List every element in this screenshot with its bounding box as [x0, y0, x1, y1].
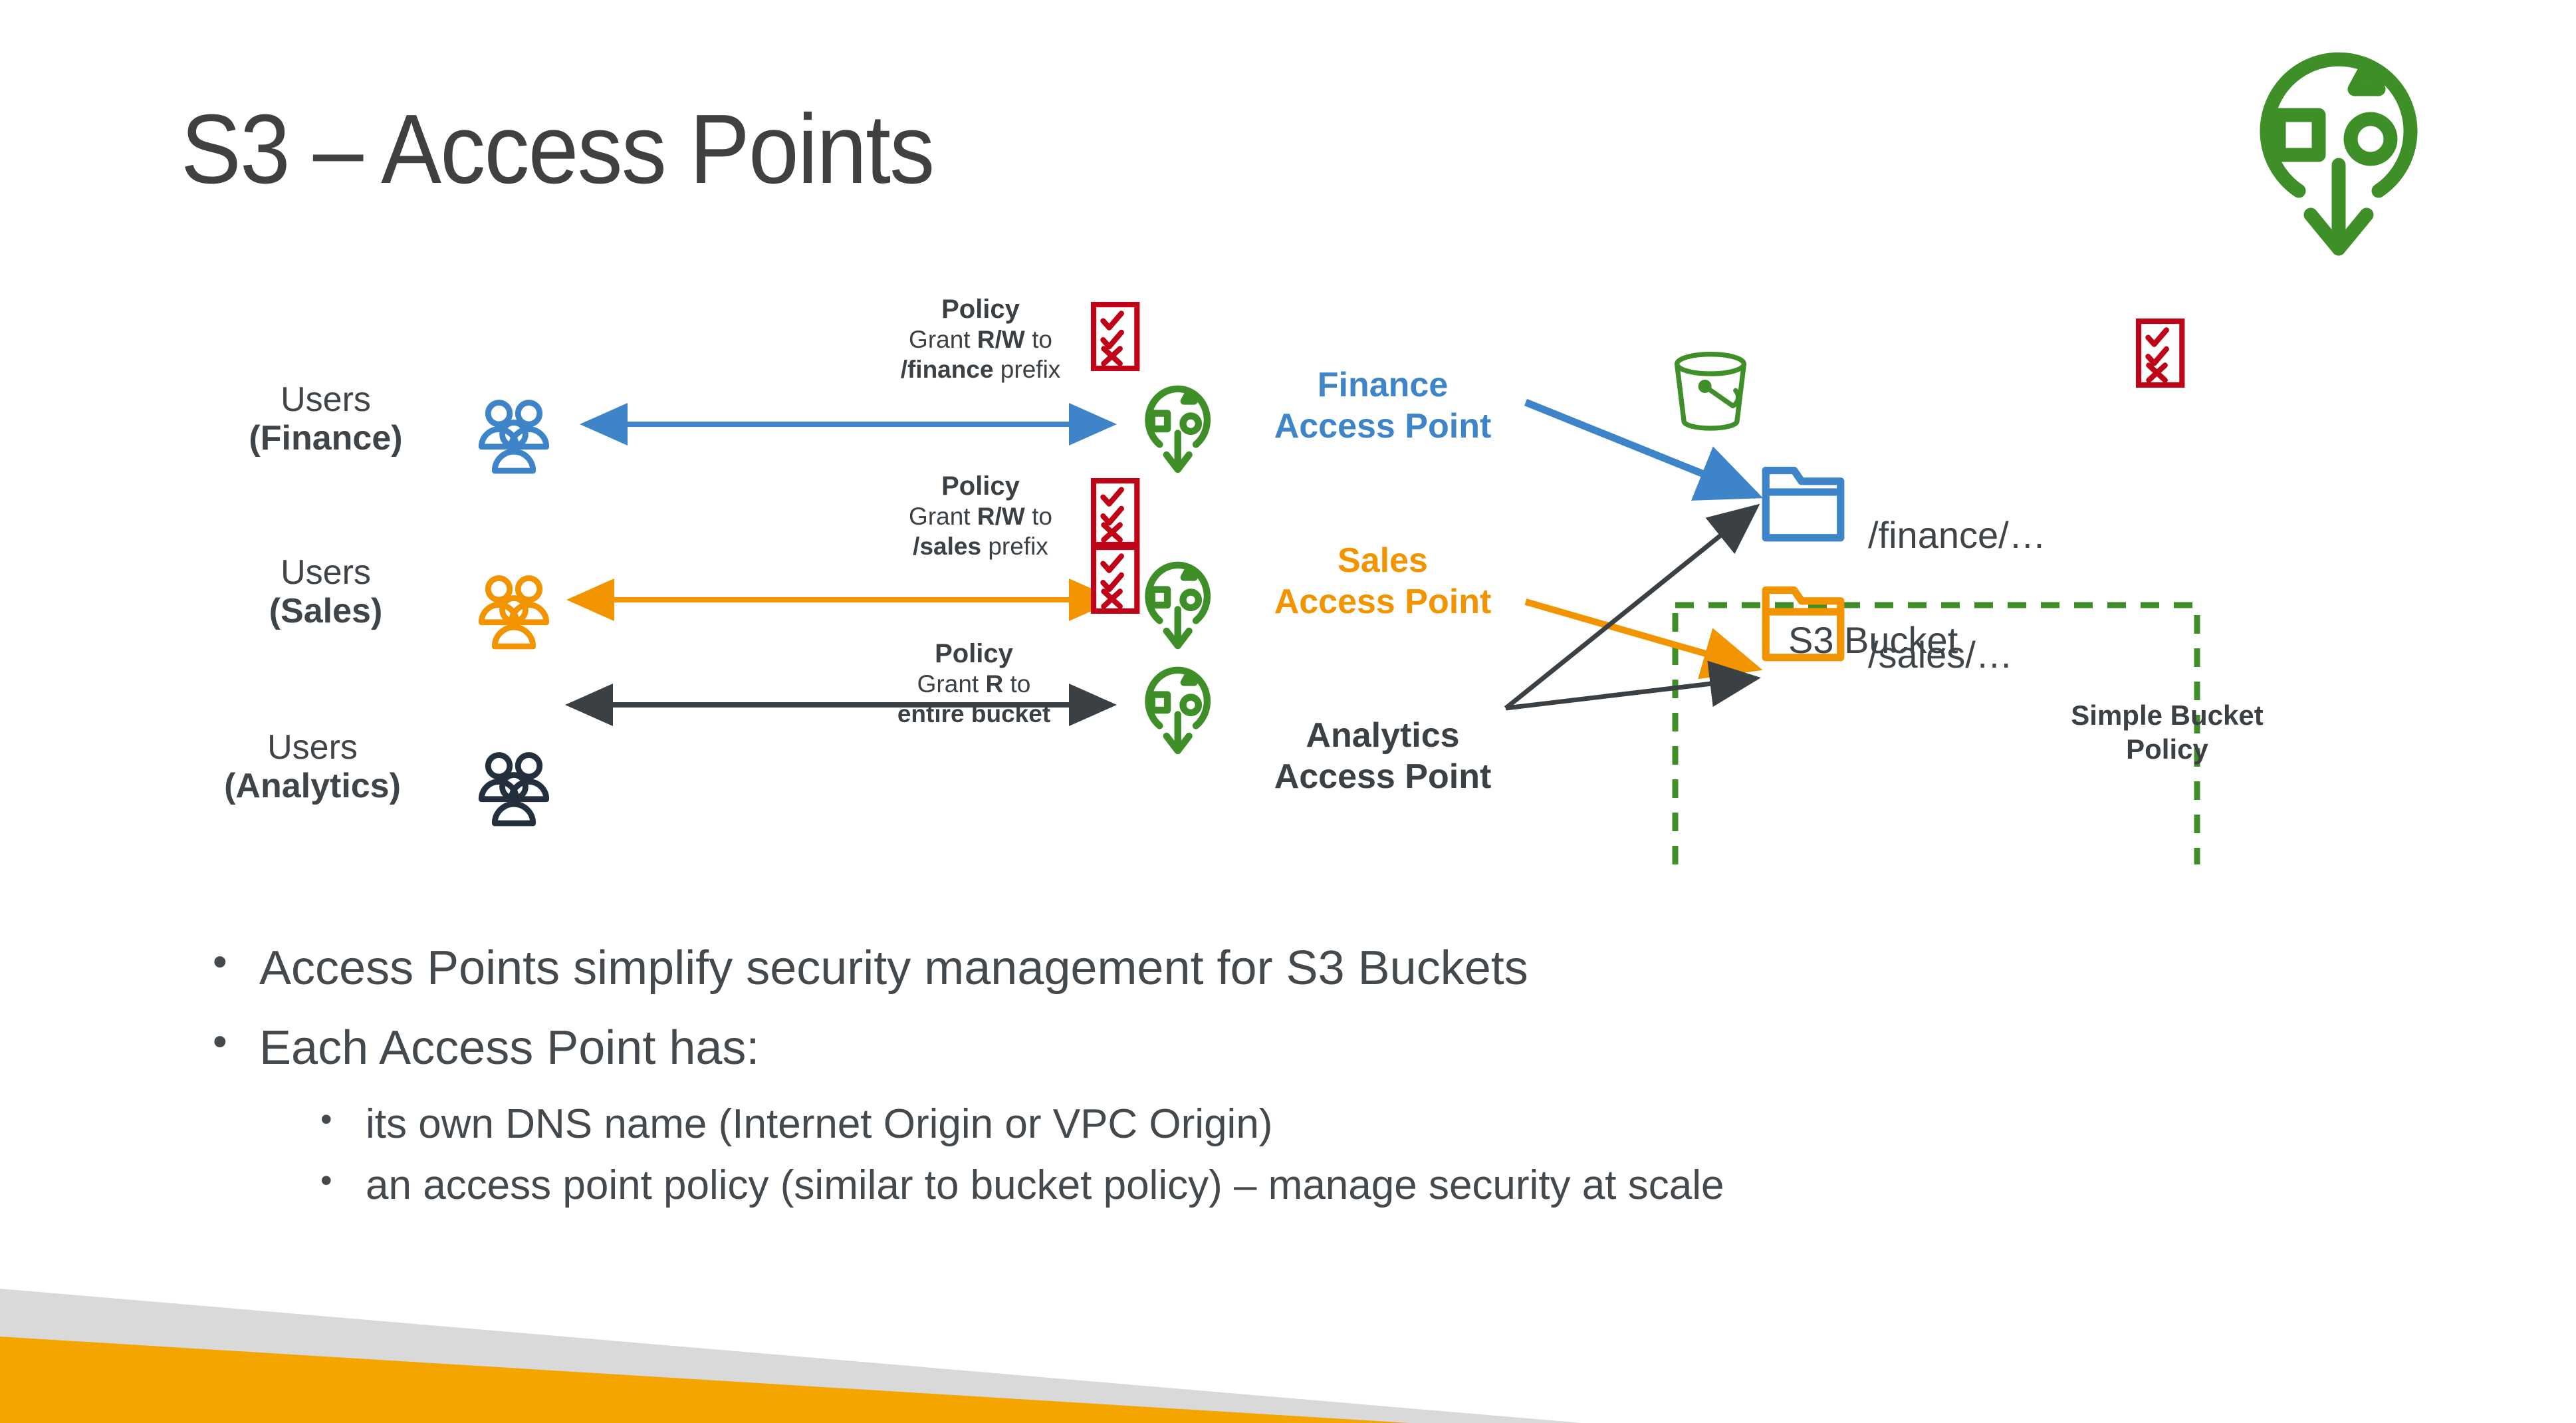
users-label-analytics: Users (Analytics): [186, 728, 439, 805]
access-point-icon-sales: [1149, 565, 1207, 646]
users-label-finance: Users (Finance): [199, 380, 452, 457]
policy-checklist-icon-bucket: [2139, 321, 2182, 385]
folder-label-sales: /sales/…: [1868, 633, 2013, 676]
users-group-icon-analytics: [481, 755, 546, 824]
policy-block-finance: Policy Grant R/W to /finance prefix: [838, 294, 1123, 384]
policy-text-bold: /finance: [901, 356, 994, 383]
policy-text-bold: /sales: [913, 533, 981, 560]
policy-text: to: [1025, 503, 1052, 530]
architecture-diagram: Users (Finance) Users (Sales) Users (Ana…: [0, 266, 2576, 864]
access-point-icon-analytics: [1149, 670, 1207, 751]
policy-block-analytics: Policy Grant R to entire bucket: [831, 638, 1117, 729]
policy-text: Grant: [917, 670, 986, 698]
access-point-label-sales: Sales Access Point: [1230, 540, 1536, 623]
users-group-icon-sales: [481, 579, 546, 647]
policy-text-bold: R/W: [977, 326, 1025, 353]
bullet-item-l1: Access Points simplify security manageme…: [199, 944, 2393, 992]
bullet-item-l1: Each Access Point has:: [199, 1024, 2393, 1072]
policy-block-sales: Policy Grant R/W to /sales prefix: [838, 471, 1123, 561]
folder-icon-finance: [1766, 471, 1841, 538]
bullet-item-l2: an access point policy (similar to bucke…: [199, 1165, 2393, 1206]
policy-text: prefix: [981, 533, 1048, 560]
policy-text-bold: R/W: [977, 503, 1025, 530]
users-group-icon-finance: [481, 403, 546, 471]
access-point-logo-icon: [2239, 25, 2438, 265]
s3-bucket-icon: [1677, 354, 1744, 428]
policy-text-bold: R: [985, 670, 1003, 698]
policy-text: to: [1025, 326, 1052, 353]
policy-text-bold: entire bucket: [897, 700, 1050, 727]
bottom-decoration: [0, 1270, 2576, 1423]
page-title: S3 – Access Points: [181, 93, 933, 206]
policy-text: Grant: [909, 503, 977, 530]
policy-text: prefix: [994, 356, 1061, 383]
access-point-label-analytics: Analytics Access Point: [1230, 715, 1536, 798]
policy-text: to: [1003, 670, 1030, 698]
access-point-label-finance: Finance Access Point: [1230, 364, 1536, 448]
folder-label-finance: /finance/…: [1868, 513, 2046, 557]
slide-canvas: S3 – Access Points: [0, 0, 2576, 1423]
bullet-item-l2: its own DNS name (Internet Origin or VPC…: [199, 1104, 2393, 1145]
bullet-list: Access Points simplify security manageme…: [199, 944, 2393, 1226]
users-label-sales: Users (Sales): [199, 553, 452, 630]
simple-bucket-policy-label: Simple Bucket Policy: [2028, 698, 2307, 766]
policy-text: Grant: [909, 326, 977, 353]
access-point-icon-finance: [1149, 389, 1207, 469]
